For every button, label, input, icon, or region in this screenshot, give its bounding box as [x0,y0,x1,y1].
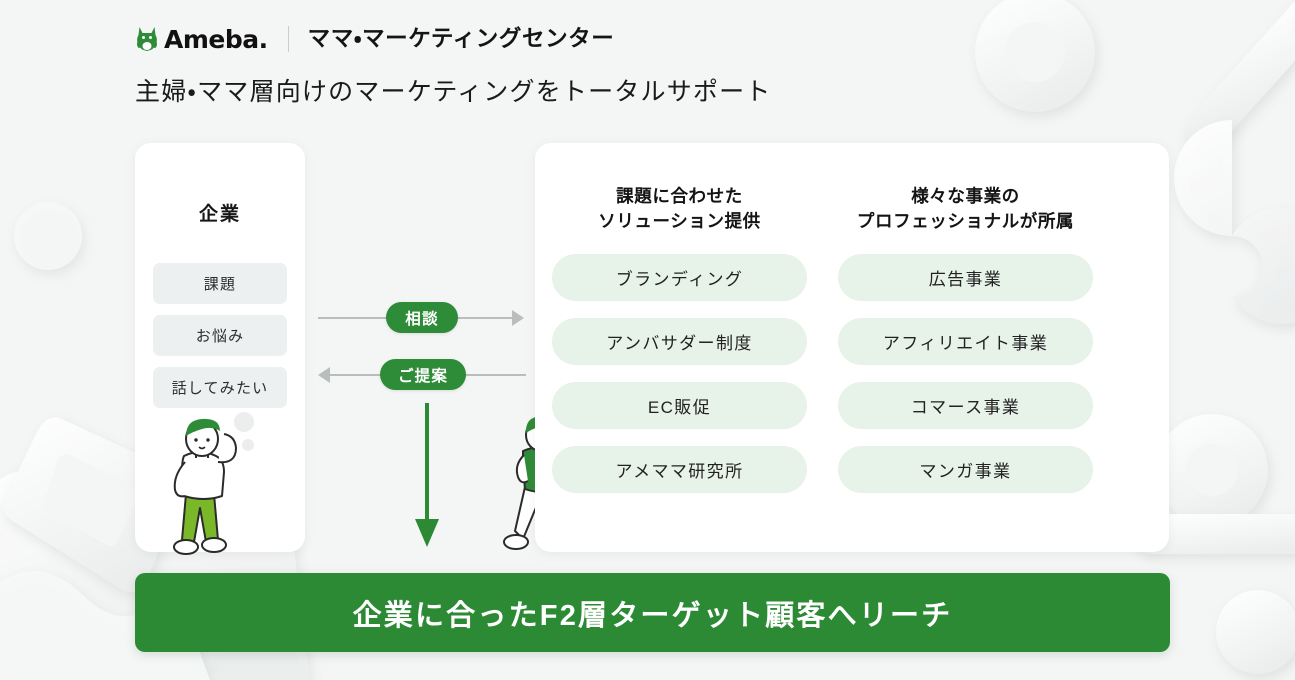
thinking-person-illustration [152,412,262,557]
company-pill-issue[interactable]: 課題 [153,263,287,304]
cta-text: 企業に合ったF2層ターゲット顧客へリーチ [353,592,953,634]
flow-arrows: 相談 ご提案 [318,296,528,406]
solution-column-heading: 課題に合わせた ソリューション提供 [552,184,807,235]
page-lede: 主婦・ママ層向けのマーケティングをトータルサポート [135,80,1165,105]
badge-consult[interactable]: 相談 [386,302,458,333]
arrow-right-icon [512,310,524,326]
ameba-wordmark: Ameba. [164,27,268,52]
business-pill-commerce[interactable]: コマース事業 [838,382,1093,429]
solution-pill-branding[interactable]: ブランディング [552,254,807,301]
solution-column: 課題に合わせた ソリューション提供 ブランディング アンバサダー制度 EC販促 … [552,184,807,510]
company-pill-worry[interactable]: お悩み [153,315,287,356]
solution-pill-ec[interactable]: EC販促 [552,382,807,429]
ameba-cat-logo-icon [135,26,159,52]
arrow-left-icon [318,367,330,383]
ameba-logo[interactable]: Ameba. [135,26,268,52]
brand-divider [288,26,289,52]
solution-pill-list: ブランディング アンバサダー制度 EC販促 アメママ研究所 [552,254,807,493]
company-pill-list: 課題 お悩み 話してみたい [153,263,287,419]
page-header: Ameba. ママ・マーケティングセンター 主婦・ママ層向けのマーケティングをト… [135,18,1165,105]
business-pill-manga[interactable]: マンガ事業 [838,446,1093,493]
company-pill-talk[interactable]: 話してみたい [153,367,287,408]
business-column-heading: 様々な事業の プロフェッショナルが所属 [838,184,1093,235]
cta-banner[interactable]: 企業に合ったF2層ターゲット顧客へリーチ [135,573,1170,652]
business-pill-list: 広告事業 アフィリエイト事業 コマース事業 マンガ事業 [838,254,1093,493]
company-card-title: 企業 [135,199,305,226]
brand-row: Ameba. ママ・マーケティングセンター [135,18,1165,60]
business-pill-advertising[interactable]: 広告事業 [838,254,1093,301]
business-column: 様々な事業の プロフェッショナルが所属 広告事業 アフィリエイト事業 コマース事… [838,184,1093,510]
site-title: ママ・マーケティングセンター [308,28,615,51]
solution-pill-amemama-lab[interactable]: アメママ研究所 [552,446,807,493]
solution-pill-ambassador[interactable]: アンバサダー制度 [552,318,807,365]
arrow-down-icon [414,403,440,548]
business-pill-affiliate[interactable]: アフィリエイト事業 [838,318,1093,365]
page-stage: Ameba. ママ・マーケティングセンター 主婦・ママ層向けのマーケティングをト… [0,0,1295,680]
badge-propose[interactable]: ご提案 [380,359,466,390]
solutions-card: 課題に合わせた ソリューション提供 ブランディング アンバサダー制度 EC販促 … [535,143,1169,552]
